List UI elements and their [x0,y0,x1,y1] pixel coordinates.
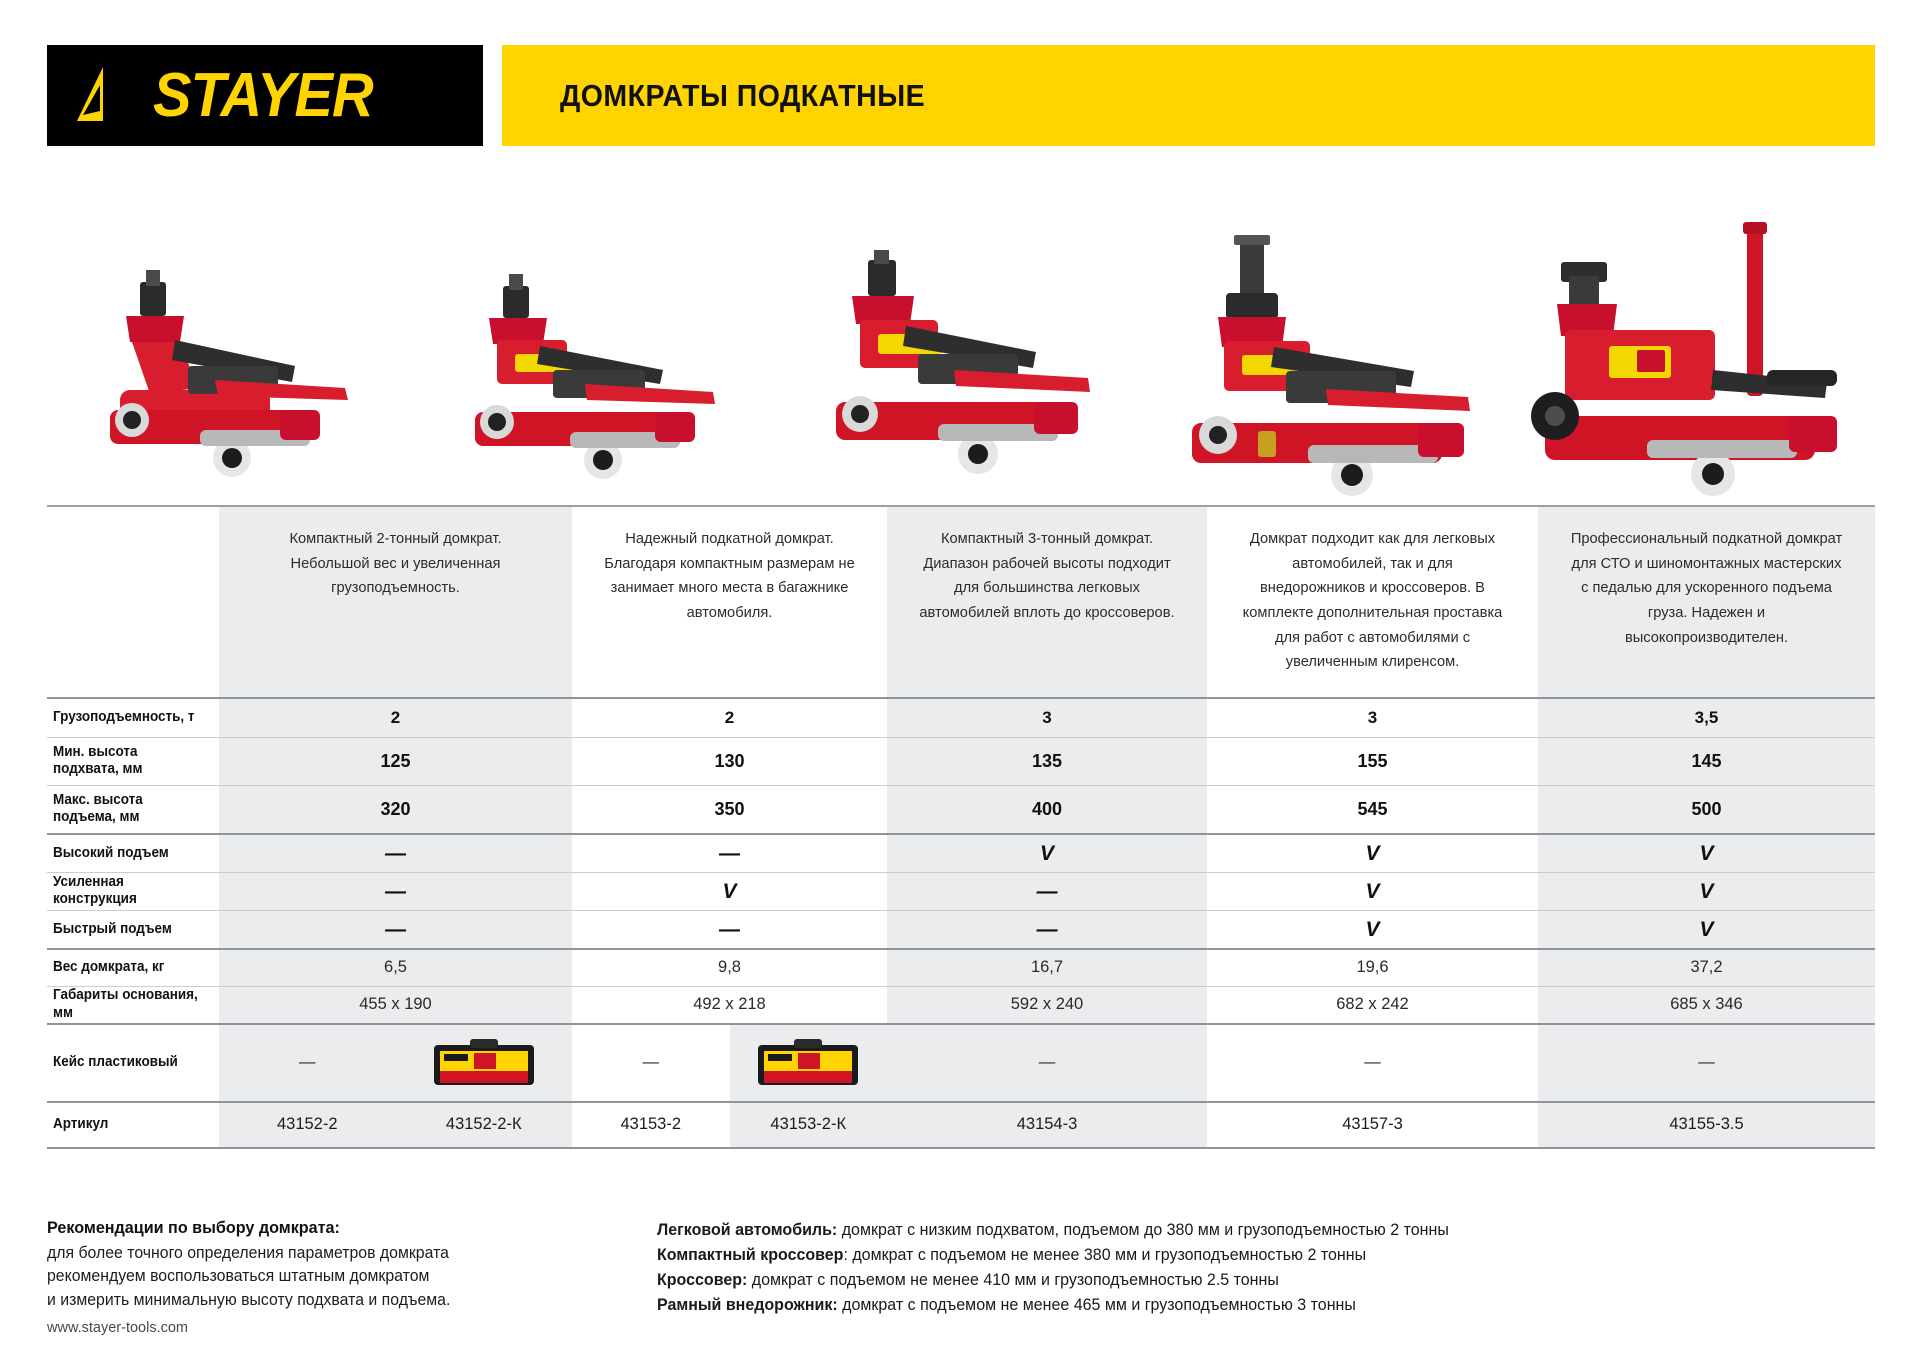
cell-article-1a: 43152-2 [219,1103,396,1147]
cell-article-col-5: 43155-3.5 [1538,1103,1875,1147]
cell-article-col-3: 43154-3 [887,1103,1207,1147]
cell-reinforced-1: — [219,873,572,910]
feature-mark: V [1365,881,1379,902]
description-text-4: Домкрат подходит как для легковых автомо… [1238,527,1507,675]
row-label-reinforced: Усиленная конструкция [47,873,219,910]
table-row-min-height: Мин. высотаподхвата, мм 125 130 135 155 … [47,738,1875,785]
cell-base-dim-2: 492 x 218 [572,987,887,1023]
cell-high-lift-5: V [1538,835,1875,872]
cell-min-height-4: 155 [1207,738,1538,785]
table-row-base-dimensions: Габариты основания, мм 455 x 190 492 x 2… [47,987,1875,1023]
cell-max-lift-5: 500 [1538,786,1875,833]
selection-guidance-heading: Рекомендации по выбору домкрата: [47,1218,577,1238]
table-row-article: Артикул 43152-2 43152-2-К 43153-2 43153-… [47,1103,1875,1147]
description-cell-5: Профессиональный подкатной домкрат для С… [1538,507,1875,697]
feature-mark: — [1037,881,1058,902]
table-row-max-lift: Макс. высотаподъема, мм 320 350 400 545 … [47,786,1875,833]
description-cell-2: Надежный подкатной домкрат. Благодаря ко… [572,507,887,697]
cell-base-dim-5: 685 x 346 [1538,987,1875,1023]
description-row: Компактный 2-тонный домкрат. Небольшой в… [47,507,1875,697]
selection-guidance-block: Рекомендации по выбору домкрата: для бол… [47,1218,577,1318]
table-row-fast-lift: Быстрый подъем — — — V V [47,911,1875,948]
description-text-3: Компактный 3-тонный домкрат. Диапазон ра… [918,527,1177,626]
row-label-plastic-case: Кейс пластиковый [47,1025,219,1101]
cell-article-2a: 43153-2 [572,1103,730,1147]
cell-case-2a: — [572,1025,730,1101]
selection-guidance-line-1: для более точного определения параметров… [47,1242,577,1265]
vehicle-recommendations-block: Легковой автомобиль: домкрат с низким по… [577,1218,1875,1318]
table-row-reinforced: Усиленная конструкция — V — V V [47,873,1875,910]
cell-base-dim-4: 682 x 242 [1207,987,1538,1023]
cell-capacity-5: 3,5 [1538,699,1875,737]
description-text-2: Надежный подкатной домкрат. Благодаря ко… [603,527,857,626]
product-image-jack-3t-compact [778,170,1144,500]
feature-mark: V [1699,881,1713,902]
feature-mark: — [385,843,406,864]
product-image-jack-3t-high [1144,170,1510,500]
recommendation-text-3: домкрат с подъемом не менее 410 мм и гру… [747,1271,1279,1289]
description-cell-3: Компактный 3-тонный домкрат. Диапазон ра… [887,507,1207,697]
cell-fast-lift-4: V [1207,911,1538,948]
feature-mark: — [719,919,740,940]
row-label-max-lift: Макс. высотаподъема, мм [47,786,219,833]
cell-article-1b: 43152-2-К [396,1103,573,1147]
cell-capacity-1: 2 [219,699,572,737]
cell-article-2b: 43153-2-К [730,1103,888,1147]
row-label-base-dimensions: Габариты основания, мм [47,987,219,1023]
cell-min-height-5: 145 [1538,738,1875,785]
cell-weight-3: 16,7 [887,950,1207,986]
catalog-page: STAYER ДОМКРАТЫ ПОДКАТНЫЕ [0,0,1920,1357]
cell-reinforced-2: V [572,873,887,910]
description-cell-1: Компактный 2-тонный домкрат. Небольшой в… [219,507,572,697]
feature-mark: V [1365,843,1379,864]
plastic-case-image [430,1035,538,1091]
cell-case-col-1: — [219,1025,572,1101]
recommendation-text-1: домкрат с низким подхватом, подъемом до … [837,1221,1449,1239]
cell-min-height-1: 125 [219,738,572,785]
cell-weight-4: 19,6 [1207,950,1538,986]
cell-fast-lift-5: V [1538,911,1875,948]
selection-guidance-line-2: рекомендуем воспользоваться штатным домк… [47,1265,577,1288]
feature-mark: — [385,881,406,902]
product-image-jack-2t-reinforced [413,170,779,500]
website-url[interactable]: www.stayer-tools.com [47,1320,188,1336]
feature-mark: V [1365,919,1379,940]
page-header: STAYER ДОМКРАТЫ ПОДКАТНЫЕ [47,45,1875,146]
description-cell-4: Домкрат подходит как для легковых автомо… [1207,507,1538,697]
feature-mark: V [1040,843,1054,864]
recommendation-item-1: Легковой автомобиль: домкрат с низким по… [657,1218,1875,1243]
cell-capacity-3: 3 [887,699,1207,737]
cell-reinforced-3: — [887,873,1207,910]
feature-mark: — [385,919,406,940]
cell-max-lift-4: 545 [1207,786,1538,833]
row-label-fast-lift: Быстрый подъем [47,911,219,948]
plastic-case-image [754,1035,862,1091]
row-label-min-height: Мин. высотаподхвата, мм [47,738,219,785]
cell-min-height-2: 130 [572,738,887,785]
cell-high-lift-3: V [887,835,1207,872]
cell-high-lift-4: V [1207,835,1538,872]
brand-wordmark: STAYER [153,65,373,127]
recommendation-item-4: Рамный внедорожник: домкрат с подъемом н… [657,1293,1875,1318]
cell-min-height-3: 135 [887,738,1207,785]
recommendation-term-3: Кроссовер: [657,1271,747,1289]
row-label-capacity: Грузоподъемность, т [47,699,219,737]
recommendation-term-4: Рамный внедорожник: [657,1296,838,1314]
table-row-weight: Вес домкрата, кг 6,5 9,8 16,7 19,6 37,2 [47,950,1875,986]
recommendation-item-3: Кроссовер: домкрат с подъемом не менее 4… [657,1268,1875,1293]
cell-case-1a: — [219,1025,396,1101]
feature-mark: — [719,843,740,864]
brand-logo: STAYER [47,45,483,146]
selection-guidance-line-3: и измерить минимальную высоту подхвата и… [47,1289,577,1312]
label-line-2: Макс. высотаподъема, мм [53,792,143,827]
feature-mark: V [1699,843,1713,864]
cell-fast-lift-1: — [219,911,572,948]
cell-capacity-2: 2 [572,699,887,737]
cell-high-lift-1: — [219,835,572,872]
cell-reinforced-4: V [1207,873,1538,910]
cell-weight-5: 37,2 [1538,950,1875,986]
description-text-5: Профессиональный подкатной домкрат для С… [1569,527,1844,650]
product-image-strip [47,170,1875,500]
row-label-article: Артикул [47,1103,219,1147]
row-label-empty [47,507,219,697]
cell-fast-lift-2: — [572,911,887,948]
product-image-jack-35t-pro [1509,170,1875,500]
cell-reinforced-5: V [1538,873,1875,910]
cell-max-lift-1: 320 [219,786,572,833]
feature-mark: — [1037,919,1058,940]
page-footer: Рекомендации по выбору домкрата: для бол… [47,1218,1875,1318]
cell-article-col-1: 43152-2 43152-2-К [219,1103,572,1147]
row-label-high-lift: Высокий подъем [47,835,219,872]
cell-base-dim-1: 455 x 190 [219,987,572,1023]
cell-max-lift-3: 400 [887,786,1207,833]
cell-weight-2: 9,8 [572,950,887,986]
recommendation-term-2: Компактный кроссовер [657,1246,843,1264]
description-text-1: Компактный 2-тонный домкрат. Небольшой в… [250,527,540,601]
cell-high-lift-2: — [572,835,887,872]
recommendation-item-2: Компактный кроссовер: домкрат с подъемом… [657,1243,1875,1268]
page-title: ДОМКРАТЫ ПОДКАТНЫЕ [560,78,925,114]
cell-case-col-4: — [1207,1025,1538,1101]
product-image-jack-2t-compact [47,170,413,500]
cell-article-col-4: 43157-3 [1207,1103,1538,1147]
stayer-triangle-logo-icon [73,65,147,127]
cell-case-2b [730,1025,888,1101]
cell-case-col-3: — [887,1025,1207,1101]
table-bottom-rule [47,1147,1875,1149]
recommendation-term-1: Легковой автомобиль: [657,1221,837,1239]
cell-case-col-2: — [572,1025,887,1101]
header-title-banner: ДОМКРАТЫ ПОДКАТНЫЕ [502,45,1875,146]
cell-max-lift-2: 350 [572,786,887,833]
cell-weight-1: 6,5 [219,950,572,986]
cell-article-col-2: 43153-2 43153-2-К [572,1103,887,1147]
recommendation-text-4: домкрат с подъемом не менее 465 мм и гру… [838,1296,1356,1314]
recommendation-text-2: : домкрат с подъемом не менее 380 мм и г… [843,1246,1366,1264]
feature-mark: V [1699,919,1713,940]
row-label-weight: Вес домкрата, кг [47,950,219,986]
table-row-capacity: Грузоподъемность, т 2 2 3 3 3,5 [47,699,1875,737]
label-line-1: Мин. высотаподхвата, мм [53,744,142,779]
comparison-table: Компактный 2-тонный домкрат. Небольшой в… [47,505,1875,1149]
cell-case-1b [396,1025,573,1101]
cell-case-col-5: — [1538,1025,1875,1101]
cell-capacity-4: 3 [1207,699,1538,737]
cell-fast-lift-3: — [887,911,1207,948]
table-row-plastic-case: Кейс пластиковый — [47,1025,1875,1101]
feature-mark: V [722,881,736,902]
table-row-high-lift: Высокий подъем — — V V V [47,835,1875,872]
cell-base-dim-3: 592 x 240 [887,987,1207,1023]
